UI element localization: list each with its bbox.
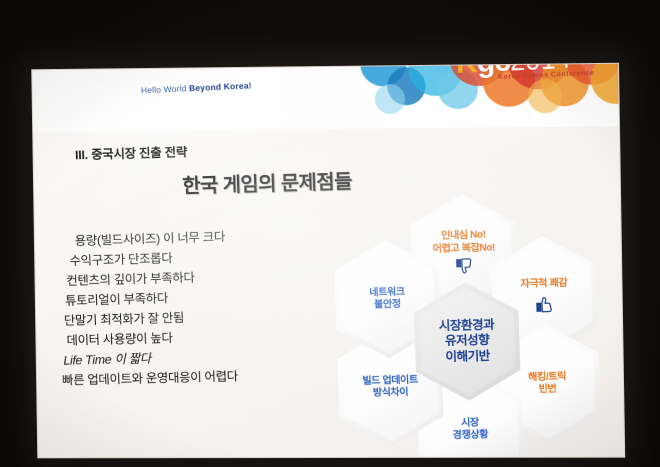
- honeycomb-diagram: 인내심 No! 어렵고 복잡No! 자극적 쾌감: [312, 190, 623, 448]
- hex-label: 자극적 쾌감: [520, 278, 567, 292]
- slide-banner: Hello World Beyond Korea! Kgc2014 Korea …: [32, 64, 619, 132]
- list-item: Life Time 이 짧다: [61, 348, 329, 367]
- list-item: 데이터 사용량이 높다: [60, 328, 328, 347]
- logo-letter-g: g: [475, 64, 494, 79]
- hex-label: 빌드 업데이트 방식차이: [362, 374, 418, 400]
- hex-label: 네트워크 불안정: [369, 286, 405, 312]
- projection-screen: Hello World Beyond Korea! Kgc2014 Korea …: [31, 63, 625, 459]
- thumbs-down-icon: [454, 258, 475, 277]
- page-title: 한국 게임의 문제점들: [182, 165, 352, 199]
- hex-label: 시장환경과 유저성향 이해기반: [439, 318, 496, 365]
- section-heading: III. 중국시장 진출 전략: [75, 141, 188, 163]
- banner-tilted-strip: Hello World Beyond Korea! Kgc2014 Korea …: [32, 64, 619, 132]
- list-item: 단말기 최적화가 잘 안됨: [60, 308, 328, 327]
- thumbs-up-icon: [534, 294, 555, 313]
- list-item: 용량(빌드사이즈) 이 너무 크다: [57, 228, 325, 248]
- tagline-plain: Hello World: [140, 83, 189, 95]
- hex-label: 시장 경쟁상황: [452, 417, 488, 443]
- tagline-bold: Beyond Korea!: [188, 80, 251, 93]
- list-item: 빠른 업데이트와 운영대응이 어렵다: [62, 368, 330, 387]
- logo-letter-k: K: [455, 64, 477, 80]
- hex-label: 인내심 No! 어렵고 복잡No!: [432, 229, 495, 256]
- list-item: 튜토리얼이 부족하다: [59, 288, 327, 307]
- list-item: 수익구조가 단조롭다: [58, 248, 326, 268]
- banner-tagline: Hello World Beyond Korea!: [140, 80, 251, 95]
- decorative-bubble: [374, 83, 406, 114]
- hex-label: 해킹/트릭 빈번: [528, 371, 567, 397]
- list-item: 컨텐츠의 깊이가 부족하다: [58, 268, 326, 288]
- problem-bullet-list: 용량(빌드사이즈) 이 너무 크다 수익구조가 단조롭다 컨텐츠의 깊이가 부족…: [57, 228, 331, 394]
- decorative-bubble: [527, 78, 563, 114]
- presentation-slide: Hello World Beyond Korea! Kgc2014 Korea …: [31, 63, 625, 459]
